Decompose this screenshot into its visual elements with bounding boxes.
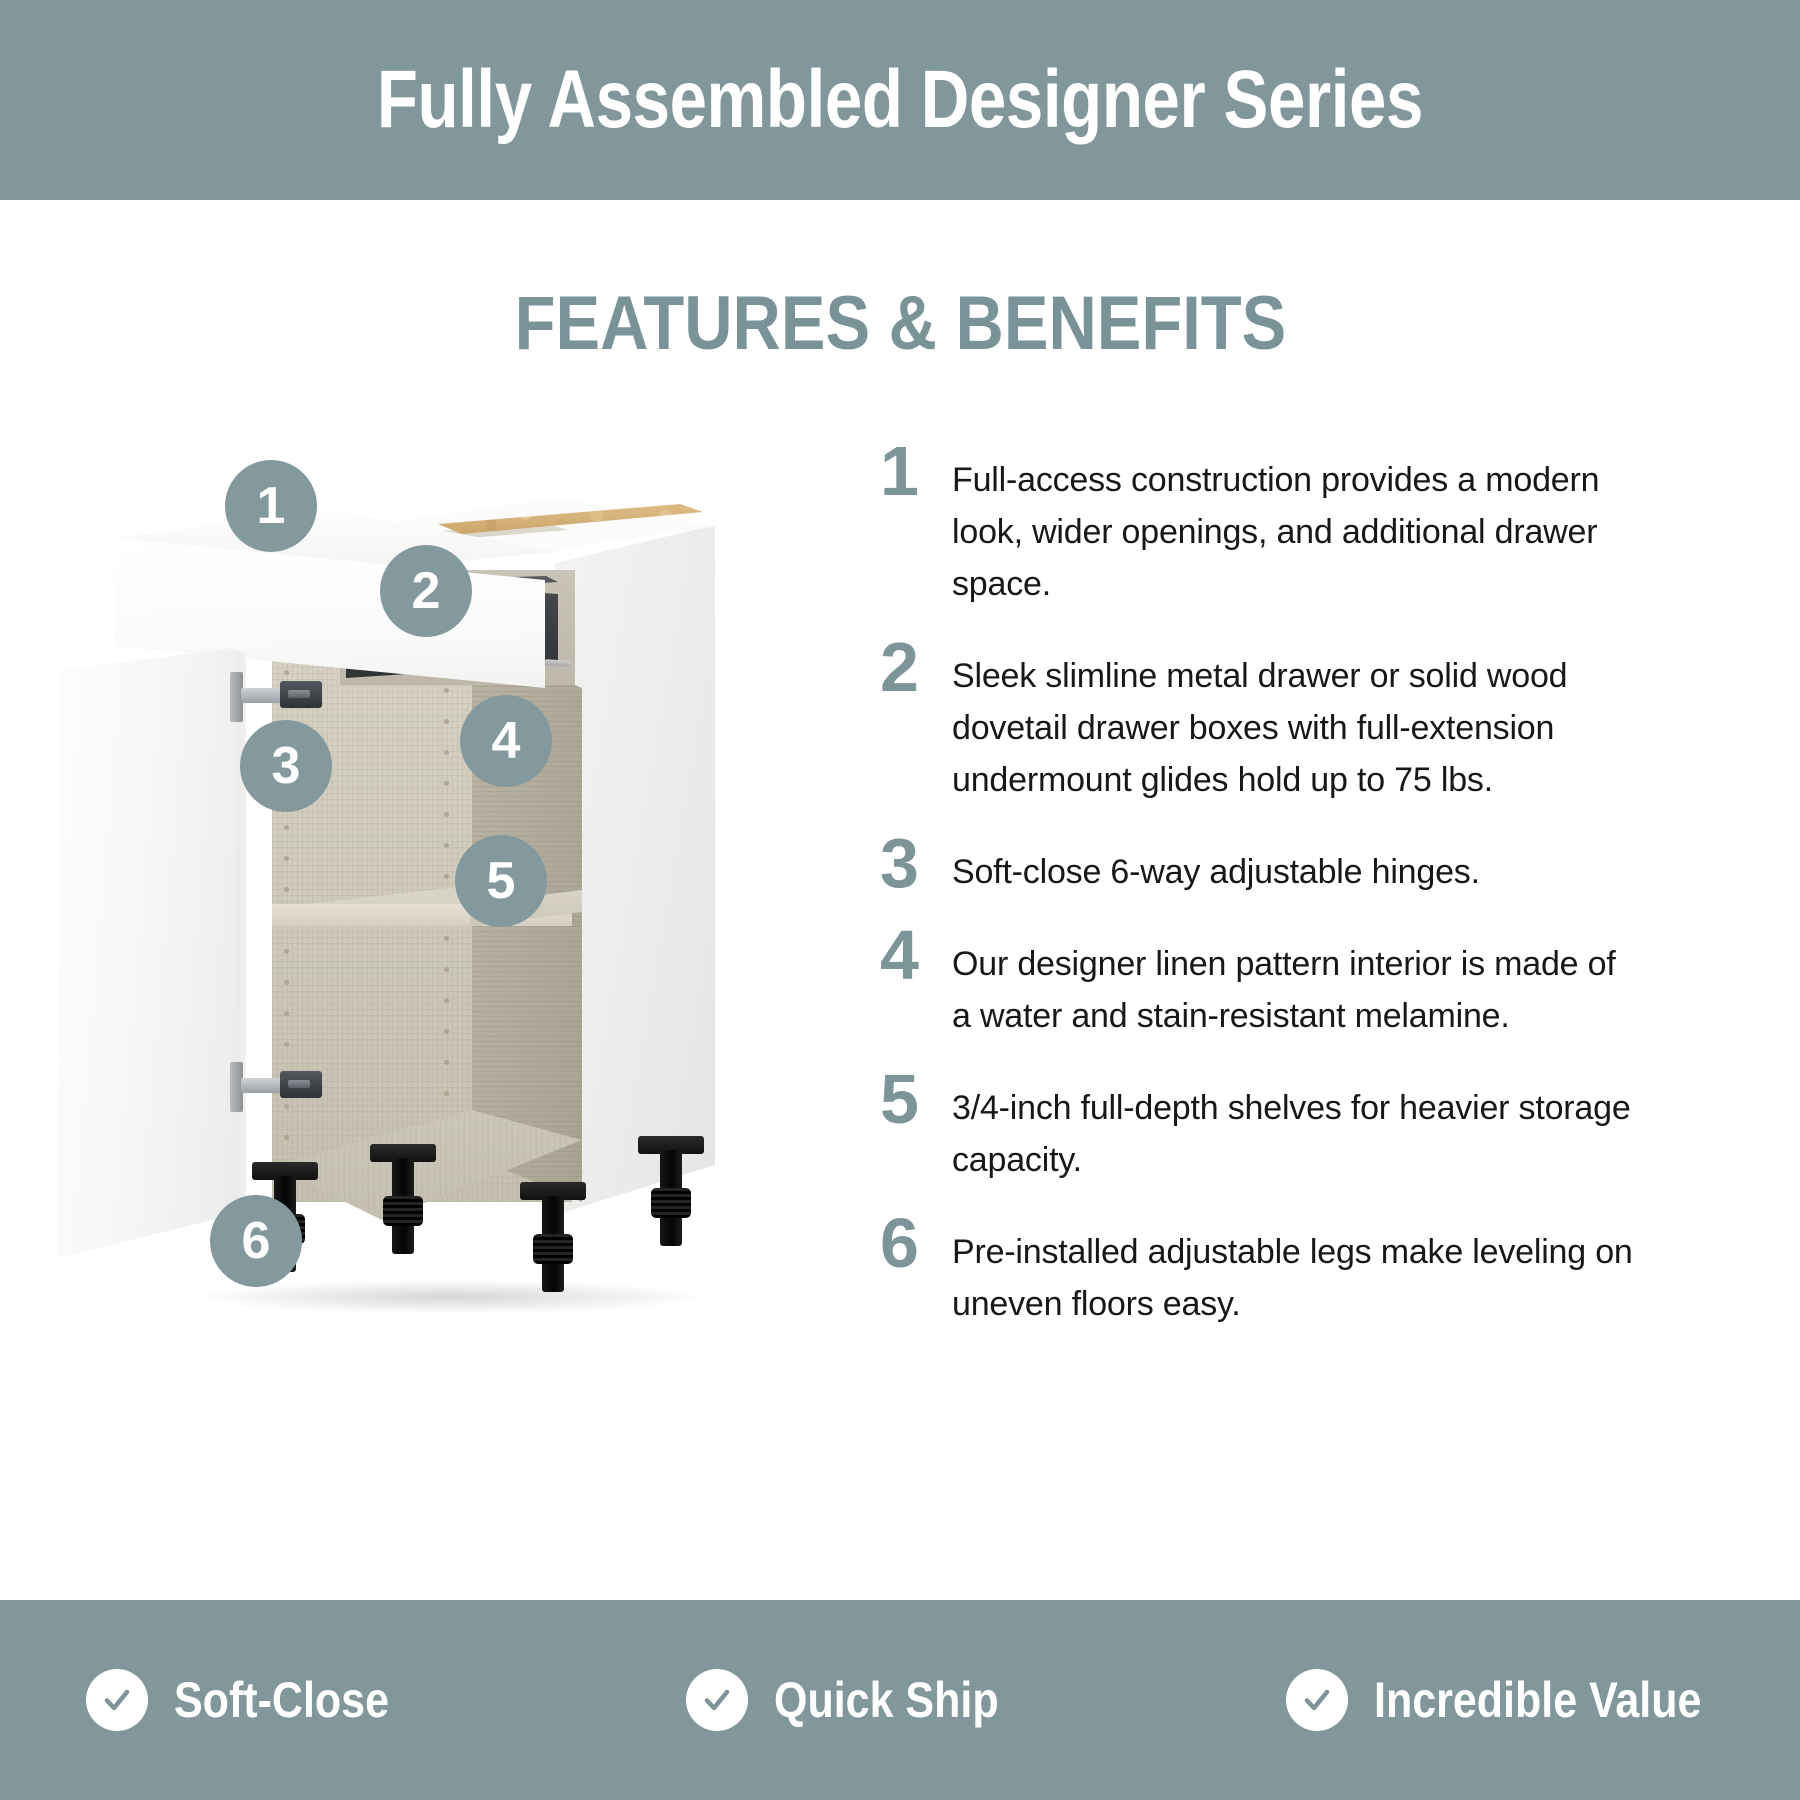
footer-label-incredible-value: Incredible Value — [1374, 1675, 1701, 1725]
header-band: Fully Assembled Designer Series — [0, 0, 1800, 200]
feature-number-4: 4 — [880, 924, 952, 986]
callout-marker-2[interactable]: 2 — [380, 545, 472, 637]
feature-text-2: Sleek slimline metal drawer or solid woo… — [952, 636, 1642, 806]
feature-item-2: 2 Sleek slimline metal drawer or solid w… — [880, 636, 1760, 806]
footer-band: Soft-Close Quick Ship Incredible Value — [0, 1600, 1800, 1800]
feature-text-4: Our designer linen pattern interior is m… — [952, 924, 1642, 1042]
callout-marker-6[interactable]: 6 — [210, 1195, 302, 1287]
callout-marker-4[interactable]: 4 — [460, 695, 552, 787]
features-list: 1 Full-access construction provides a mo… — [880, 440, 1760, 1356]
feature-item-4: 4 Our designer linen pattern interior is… — [880, 924, 1760, 1042]
check-circle-icon — [86, 1669, 148, 1731]
feature-text-5: 3/4-inch full-depth shelves for heavier … — [952, 1068, 1642, 1186]
footer-item-incredible-value: Incredible Value — [1200, 1669, 1800, 1731]
footer-item-quick-ship: Quick Ship — [600, 1669, 1200, 1731]
adjustable-leg-front-right — [520, 1182, 586, 1292]
feature-text-3: Soft-close 6-way adjustable hinges. — [952, 832, 1642, 898]
footer-label-quick-ship: Quick Ship — [774, 1675, 999, 1725]
product-illustration: 1 2 3 4 5 6 — [40, 420, 840, 1420]
feature-item-1: 1 Full-access construction provides a mo… — [880, 440, 1760, 610]
feature-item-3: 3 Soft-close 6-way adjustable hinges. — [880, 832, 1760, 898]
feature-item-5: 5 3/4-inch full-depth shelves for heavie… — [880, 1068, 1760, 1186]
page-title: Fully Assembled Designer Series — [377, 59, 1423, 141]
feature-number-5: 5 — [880, 1068, 952, 1130]
feature-text-6: Pre-installed adjustable legs make level… — [952, 1212, 1642, 1330]
cabinet-drawing: 1 2 3 4 5 6 — [40, 420, 840, 1420]
shelf-pin-holes-right — [444, 688, 456, 1188]
feature-item-6: 6 Pre-installed adjustable legs make lev… — [880, 1212, 1760, 1330]
callout-marker-1[interactable]: 1 — [225, 460, 317, 552]
footer-label-soft-close: Soft-Close — [174, 1675, 389, 1725]
soft-close-hinge-lower — [230, 1058, 322, 1116]
soft-close-hinge-upper — [230, 668, 322, 726]
check-circle-icon — [686, 1669, 748, 1731]
footer-item-soft-close: Soft-Close — [0, 1669, 600, 1731]
adjustable-leg-rear-left — [370, 1144, 436, 1254]
section-heading-text: FEATURES & BENEFITS — [514, 286, 1286, 362]
main-content: 1 2 3 4 5 6 1 Full-access construction p… — [0, 400, 1800, 1590]
feature-number-1: 1 — [880, 440, 952, 502]
infographic-page: Fully Assembled Designer Series FEATURES… — [0, 0, 1800, 1800]
callout-marker-3[interactable]: 3 — [240, 720, 332, 812]
check-circle-icon — [1286, 1669, 1348, 1731]
callout-marker-5[interactable]: 5 — [455, 835, 547, 927]
cabinet-door-panel — [58, 648, 236, 1258]
feature-number-3: 3 — [880, 832, 952, 894]
feature-text-1: Full-access construction provides a mode… — [952, 440, 1642, 610]
section-heading: FEATURES & BENEFITS — [0, 286, 1800, 362]
feature-number-6: 6 — [880, 1212, 952, 1274]
adjustable-leg-rear-right — [638, 1136, 704, 1246]
feature-number-2: 2 — [880, 636, 952, 698]
